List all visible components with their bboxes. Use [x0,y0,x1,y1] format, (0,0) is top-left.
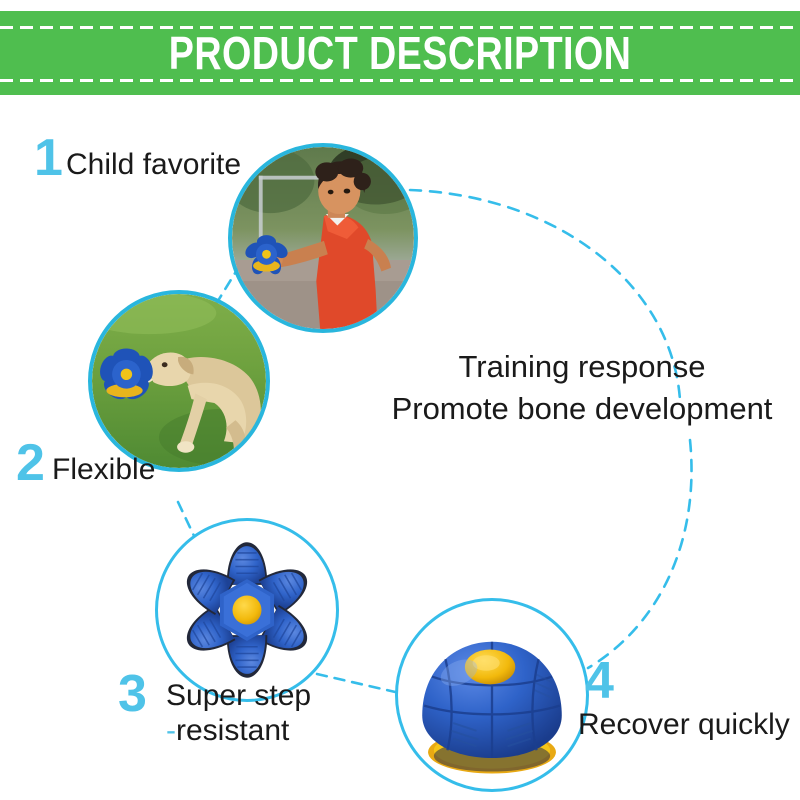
step-3-image-circle [155,518,339,702]
center-benefit-text: Training response Promote bone developme… [370,346,794,430]
center-text-line-1: Training response [370,346,794,388]
dog-chasing-disc-photo [92,294,266,468]
ball-form-product-image [398,601,586,789]
step-3-label-line1: Super step [166,679,311,712]
step-3-label-line2: resistant [176,714,289,747]
step-4-number: 4 [585,655,614,707]
step-3-label: Super step-resistant [166,678,311,749]
connector-arc-bottom-right [588,440,692,668]
step-1-label: Child favorite [66,147,241,182]
step-4-image-circle [395,598,589,792]
product-description-infographic: PRODUCT DESCRIPTION [0,0,800,800]
step-3-label-hyphen: - [166,714,176,747]
step-1-number: 1 [34,132,63,184]
step-2-number: 2 [16,437,45,489]
center-text-line-2: Promote bone development [370,388,794,430]
flat-disc-product-image [158,521,336,699]
header-banner: PRODUCT DESCRIPTION [0,11,800,95]
step-2-label: Flexible [52,452,155,487]
step-3-number: 3 [118,668,147,720]
step-2-image-circle [88,290,270,472]
page-title: PRODUCT DESCRIPTION [169,26,632,80]
step-4-label: Recover quickly [578,707,790,742]
